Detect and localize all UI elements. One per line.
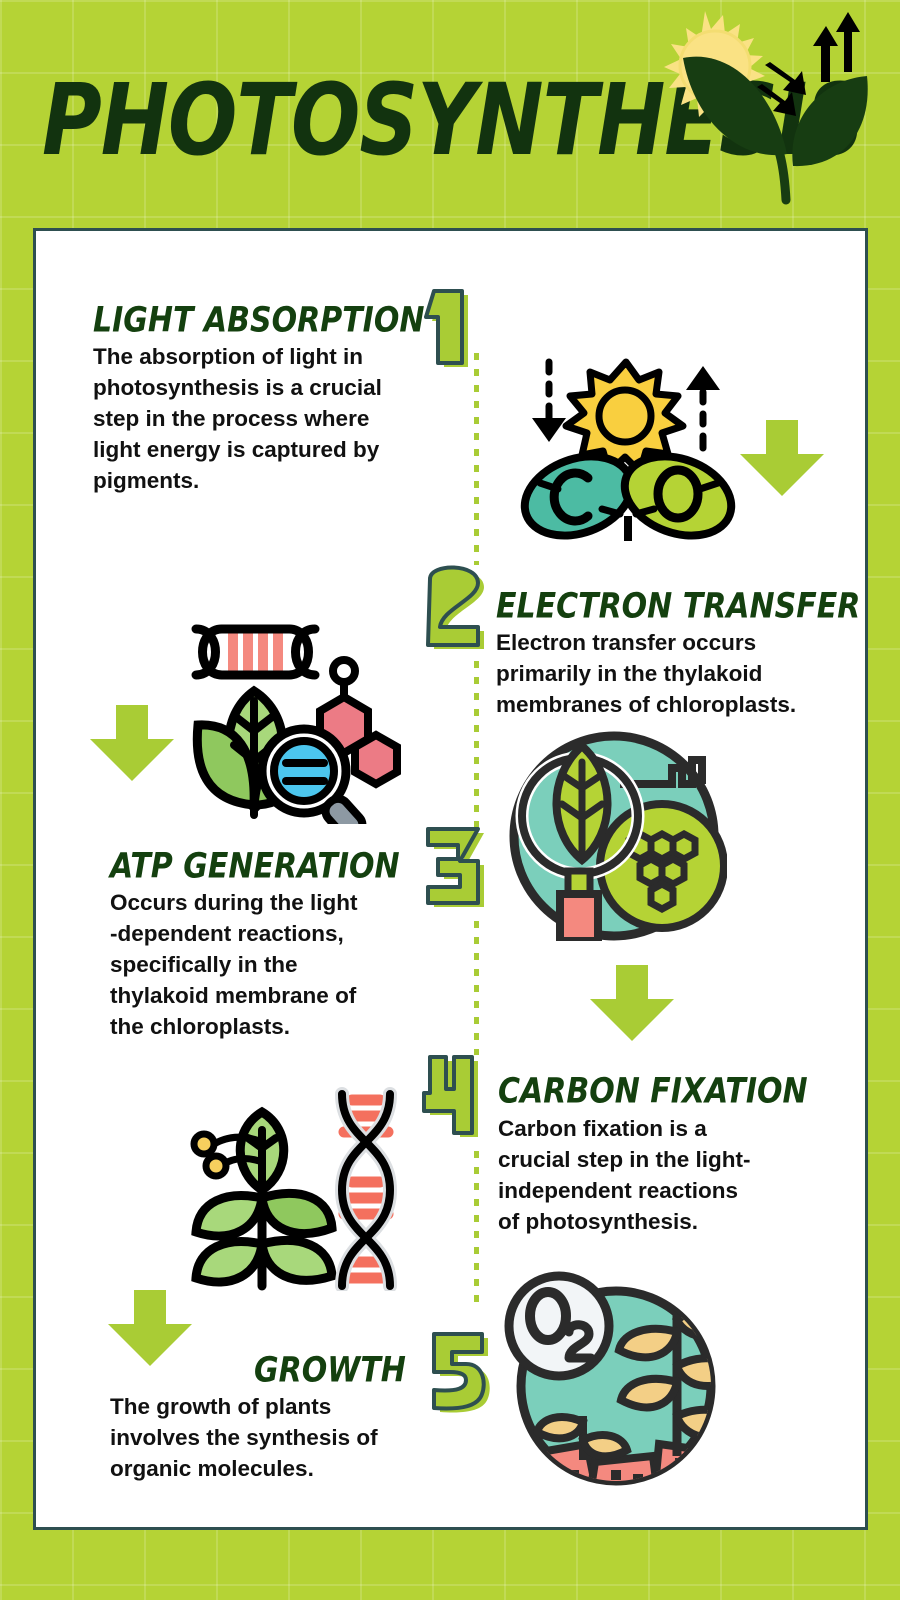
- step-title-1: LIGHT ABSORPTION: [93, 300, 424, 341]
- step-body-3: Occurs during the light -dependent react…: [110, 887, 450, 1042]
- connector-line-1: [474, 353, 479, 565]
- oxygen-bubble-icon: [509, 1276, 609, 1376]
- flow-arrow-2: [86, 701, 178, 783]
- arrow-up-icon: [813, 12, 860, 82]
- step-illustration-5: [491, 1266, 726, 1491]
- step-number-4: [414, 1051, 488, 1143]
- connector-line-2: [474, 661, 479, 831]
- step-body-5: The growth of plants involves the synthe…: [110, 1391, 450, 1484]
- connector-line-4: [474, 1151, 479, 1311]
- step-title-4: CARBON FIXATION: [498, 1071, 808, 1112]
- step-title-2: ELECTRON TRANSFER: [496, 586, 860, 627]
- plant-icon: [194, 1112, 332, 1286]
- step-title-3: ATP GENERATION: [110, 846, 400, 887]
- step-body-1: The absorption of light in photosynthesi…: [93, 341, 438, 496]
- step-title-5: GROWTH: [254, 1350, 406, 1391]
- step-number-2: [416, 561, 490, 653]
- step-body-4: Carbon fixation is a crucial step in the…: [498, 1113, 868, 1237]
- flow-arrow-3: [586, 961, 678, 1043]
- header-illustration: [645, 4, 895, 209]
- step-illustration-1: [506, 356, 756, 541]
- step-illustration-2: [502, 726, 727, 941]
- flow-arrow-4: [104, 1286, 196, 1368]
- content-card: LIGHT ABSORPTION The absorption of light…: [33, 228, 868, 1530]
- dna-helix-icon: [342, 1094, 390, 1286]
- header: PHOTOSYNTHESIS: [0, 0, 900, 228]
- step-illustration-4: [174, 1086, 399, 1291]
- step-body-2: Electron transfer occurs primarily in th…: [496, 627, 866, 720]
- step-illustration-3: [176, 619, 401, 824]
- dna-icon: [196, 629, 315, 675]
- flow-arrow-1: [736, 416, 828, 498]
- connector-line-3: [474, 921, 479, 1055]
